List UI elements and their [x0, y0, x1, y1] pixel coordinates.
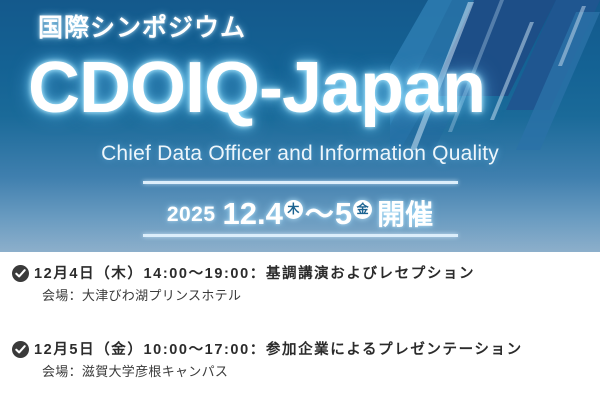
event-venue: 会場：大津びわ湖プリンスホテル [42, 285, 241, 304]
date-range-separator: ～ [305, 199, 334, 231]
date-suffix: 開催 [377, 199, 433, 230]
banner-subtitle: Chief Data Officer and Information Quali… [0, 142, 600, 166]
check-circle-icon [12, 341, 29, 358]
date-end: 5 [335, 196, 352, 231]
date-start: 12.4 [223, 196, 283, 231]
hero-banner: 国際シンポジウム CDOIQ-Japan Chief Data Officer … [0, 0, 600, 252]
event-heading: 12月4日（木）14:00～19:00：基調講演およびレセプション [34, 262, 475, 283]
banner-kicker: 国際シンポジウム [38, 8, 246, 44]
divider-bottom [143, 234, 458, 237]
day-of-week-start: 木 [284, 200, 303, 219]
day-of-week-end: 金 [353, 200, 372, 219]
page-title: CDOIQ-Japan [28, 48, 485, 128]
divider-top [143, 181, 458, 184]
event-heading: 12月5日（金）10:00～17:00：参加企業によるプレゼンテーション [34, 338, 523, 359]
event-schedule-list: 12月4日（木）14:00～19:00：基調講演およびレセプション 会場：大津び… [0, 252, 600, 400]
event-banner-page: 国際シンポジウム CDOIQ-Japan Chief Data Officer … [0, 0, 600, 400]
date-year: 2025 [167, 203, 216, 226]
banner-content: 国際シンポジウム CDOIQ-Japan Chief Data Officer … [0, 0, 600, 252]
event-venue: 会場：滋賀大学彦根キャンパス [42, 361, 228, 380]
check-circle-icon [12, 265, 29, 282]
event-dateline: 202512.4木～5金開催 [0, 191, 600, 233]
